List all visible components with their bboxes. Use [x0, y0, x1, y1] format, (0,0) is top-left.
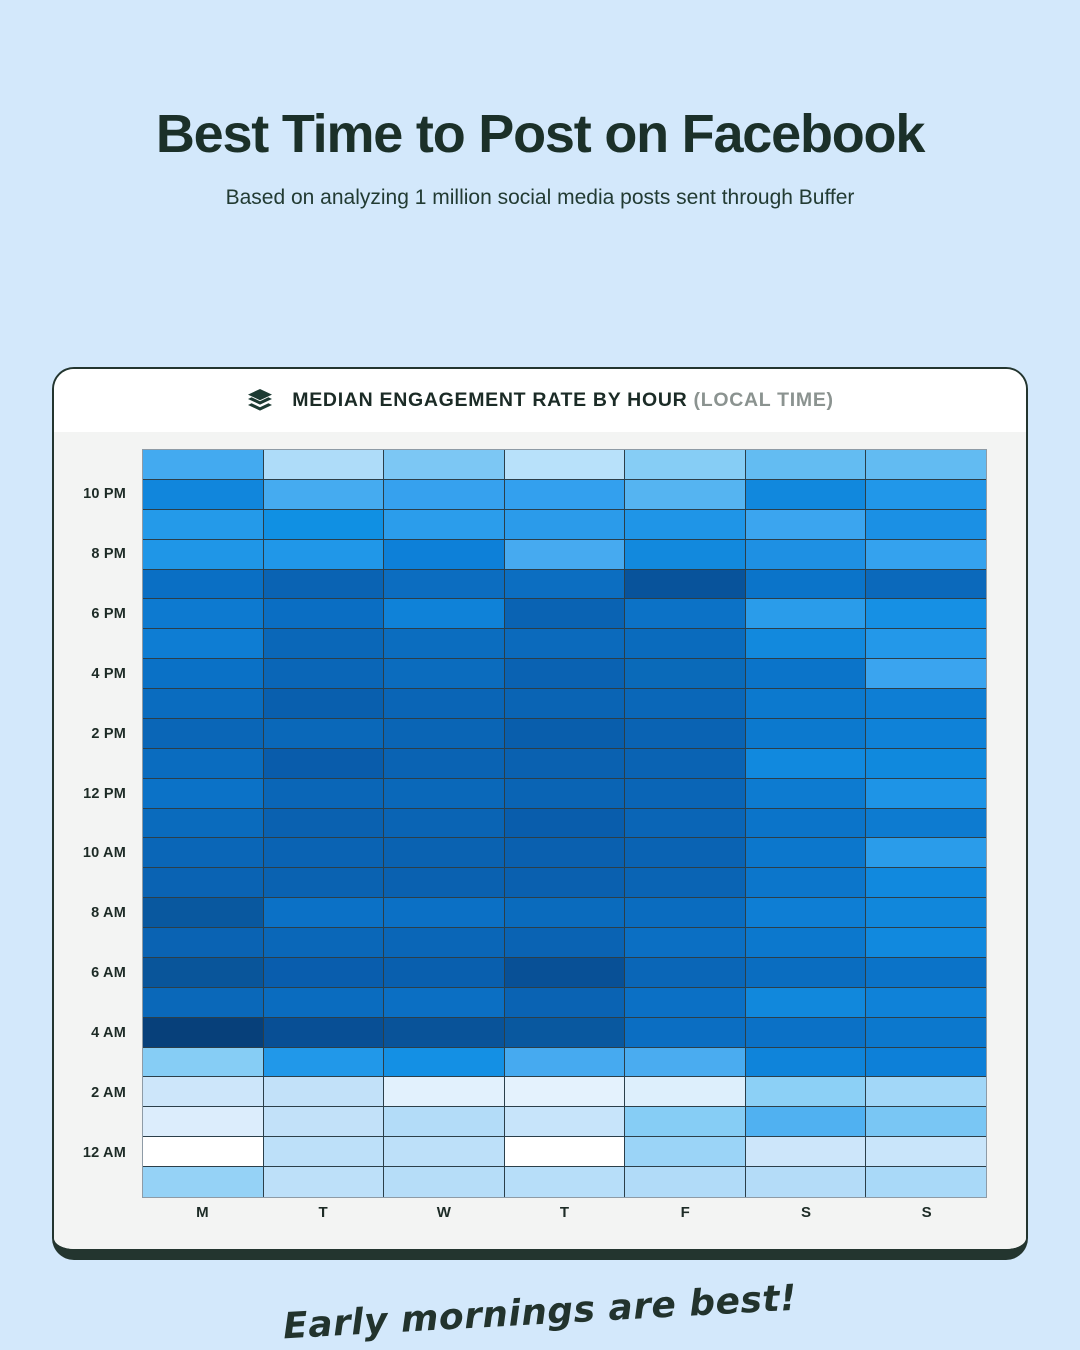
heatmap-cell[interactable]	[505, 1167, 626, 1197]
heatmap-cell[interactable]	[625, 570, 746, 600]
x-axis-label-sunday: S	[866, 1204, 987, 1221]
page-title: Best Time to Post on Facebook	[0, 104, 1080, 164]
x-axis-label-saturday: S	[746, 1204, 867, 1221]
heatmap-row	[143, 540, 986, 570]
heatmap-cell[interactable]	[746, 450, 867, 480]
heatmap-cell[interactable]	[384, 1048, 505, 1078]
heatmap-cell[interactable]	[384, 570, 505, 600]
heatmap-cell[interactable]	[264, 629, 385, 659]
heatmap-cell[interactable]	[746, 1137, 867, 1167]
chart-card: MEDIAN ENGAGEMENT RATE BY HOUR (LOCAL TI…	[52, 367, 1028, 1260]
heatmap-cell[interactable]	[505, 629, 626, 659]
y-axis-label: 2 AM	[91, 1085, 126, 1101]
heatmap-cell[interactable]	[505, 1048, 626, 1078]
heatmap-cell[interactable]	[866, 928, 986, 958]
heatmap-cell[interactable]	[143, 1018, 264, 1048]
heatmap-cell[interactable]	[264, 868, 385, 898]
heatmap-cell[interactable]	[264, 838, 385, 868]
heatmap-row	[143, 898, 986, 928]
heatmap-cell[interactable]	[143, 659, 264, 689]
y-axis-label: 12 PM	[83, 786, 126, 802]
heatmap-cell[interactable]	[746, 659, 867, 689]
footnote-annotation: Early mornings are best!	[0, 1262, 1080, 1350]
heatmap-cell[interactable]	[264, 1048, 385, 1078]
heatmap-cell[interactable]	[384, 689, 505, 719]
heatmap-cell[interactable]	[625, 779, 746, 809]
heatmap-cell[interactable]	[264, 1018, 385, 1048]
heatmap-cell[interactable]	[866, 1018, 986, 1048]
heatmap-cell[interactable]	[143, 838, 264, 868]
heatmap-cell[interactable]	[505, 659, 626, 689]
heatmap-cell[interactable]	[625, 540, 746, 570]
heatmap-cell[interactable]	[746, 719, 867, 749]
heatmap-cell[interactable]	[746, 958, 867, 988]
heatmap-cell[interactable]	[625, 1077, 746, 1107]
heatmap-cell[interactable]	[866, 779, 986, 809]
heatmap-cell[interactable]	[625, 1018, 746, 1048]
heatmap-row	[143, 450, 986, 480]
heatmap-cell[interactable]	[625, 1137, 746, 1167]
heatmap-row	[143, 629, 986, 659]
heatmap-cell[interactable]	[505, 779, 626, 809]
heatmap-cell[interactable]	[746, 1167, 867, 1197]
heatmap-cell[interactable]	[625, 928, 746, 958]
heatmap-cell[interactable]	[384, 809, 505, 839]
heatmap-cell[interactable]	[866, 719, 986, 749]
heatmap-cell[interactable]	[866, 1137, 986, 1167]
heatmap-cell[interactable]	[505, 689, 626, 719]
heatmap-cell[interactable]	[625, 480, 746, 510]
heatmap-cell[interactable]	[625, 1107, 746, 1137]
heatmap-cell[interactable]	[746, 809, 867, 839]
heatmap-cell[interactable]	[505, 898, 626, 928]
heatmap-cell[interactable]	[384, 928, 505, 958]
heatmap-cell[interactable]	[746, 868, 867, 898]
heatmap-cell[interactable]	[264, 570, 385, 600]
heatmap-cell[interactable]	[746, 898, 867, 928]
heatmap-cell[interactable]	[143, 1077, 264, 1107]
heatmap-cell[interactable]	[625, 958, 746, 988]
heatmap-cell[interactable]	[384, 958, 505, 988]
heatmap-cell[interactable]	[505, 719, 626, 749]
heatmap-cell[interactable]	[264, 1107, 385, 1137]
heatmap-cell[interactable]	[866, 1167, 986, 1197]
x-axis: MTWTFSS	[142, 1204, 987, 1221]
heatmap-cell[interactable]	[264, 898, 385, 928]
heatmap-row	[143, 1167, 986, 1197]
heatmap-cell[interactable]	[625, 838, 746, 868]
heatmap-cell[interactable]	[746, 749, 867, 779]
heatmap-cell[interactable]	[505, 838, 626, 868]
heatmap-cell[interactable]	[384, 629, 505, 659]
heatmap-row	[143, 510, 986, 540]
heatmap-cell[interactable]	[866, 510, 986, 540]
heatmap-row	[143, 1048, 986, 1078]
heatmap-cell[interactable]	[264, 809, 385, 839]
heatmap-cell[interactable]	[143, 779, 264, 809]
heatmap-cell[interactable]	[505, 749, 626, 779]
card-title-suffix: (LOCAL TIME)	[694, 389, 834, 411]
heatmap-cell[interactable]	[625, 1048, 746, 1078]
heatmap-cell[interactable]	[625, 868, 746, 898]
heatmap-cell[interactable]	[866, 958, 986, 988]
heatmap-cell[interactable]	[264, 958, 385, 988]
heatmap-cell[interactable]	[384, 838, 505, 868]
x-axis-label-monday: M	[142, 1204, 263, 1221]
heatmap-cell[interactable]	[143, 898, 264, 928]
heatmap-row	[143, 928, 986, 958]
heatmap-cell[interactable]	[746, 1018, 867, 1048]
heatmap-cell[interactable]	[746, 1077, 867, 1107]
heatmap-cell[interactable]	[143, 689, 264, 719]
heatmap-cell[interactable]	[625, 510, 746, 540]
y-axis-label: 6 AM	[91, 965, 126, 981]
heatmap-cell[interactable]	[625, 689, 746, 719]
heatmap-cell[interactable]	[746, 689, 867, 719]
heatmap-cell[interactable]	[866, 599, 986, 629]
heatmap-cell[interactable]	[143, 988, 264, 1018]
heatmap-cell[interactable]	[264, 599, 385, 629]
heatmap-cell[interactable]	[866, 809, 986, 839]
heatmap-cell[interactable]	[866, 1077, 986, 1107]
heatmap-cell[interactable]	[505, 868, 626, 898]
heatmap-cell[interactable]	[143, 749, 264, 779]
y-axis-label: 4 PM	[91, 666, 126, 682]
y-axis-label: 10 AM	[83, 845, 126, 861]
page-subtitle: Based on analyzing 1 million social medi…	[0, 186, 1080, 210]
heatmap-cell[interactable]	[384, 1018, 505, 1048]
heatmap-cell[interactable]	[143, 868, 264, 898]
heatmap-cell[interactable]	[746, 570, 867, 600]
heatmap-row	[143, 809, 986, 839]
heatmap-cell[interactable]	[505, 450, 626, 480]
y-axis-label: 12 AM	[83, 1145, 126, 1161]
heatmap-cell[interactable]	[866, 540, 986, 570]
heatmap-cell[interactable]	[264, 1137, 385, 1167]
heatmap-cell[interactable]	[625, 719, 746, 749]
y-axis-label: 6 PM	[91, 606, 126, 622]
heatmap-cell[interactable]	[143, 809, 264, 839]
heatmap-cell[interactable]	[384, 599, 505, 629]
heatmap-cell[interactable]	[746, 988, 867, 1018]
heatmap-cell[interactable]	[866, 749, 986, 779]
heatmap-cell[interactable]	[143, 629, 264, 659]
x-axis-label-wednesday: W	[383, 1204, 504, 1221]
heatmap-cell[interactable]	[505, 1077, 626, 1107]
heatmap-cell[interactable]	[505, 958, 626, 988]
heatmap-cell[interactable]	[143, 510, 264, 540]
heatmap-cell[interactable]	[384, 988, 505, 1018]
heatmap-cell[interactable]	[625, 988, 746, 1018]
heatmap-cell[interactable]	[505, 510, 626, 540]
heatmap-cell[interactable]	[264, 719, 385, 749]
heatmap-cell[interactable]	[264, 450, 385, 480]
card-title-main: MEDIAN ENGAGEMENT RATE BY HOUR	[292, 389, 687, 411]
heatmap-row	[143, 838, 986, 868]
heatmap-row	[143, 1018, 986, 1048]
card-header: MEDIAN ENGAGEMENT RATE BY HOUR (LOCAL TI…	[54, 369, 1026, 432]
heatmap-row	[143, 659, 986, 689]
heatmap-cell[interactable]	[384, 719, 505, 749]
heatmap-cell[interactable]	[143, 599, 264, 629]
heatmap-cell[interactable]	[505, 1107, 626, 1137]
heatmap-row	[143, 749, 986, 779]
heatmap-cell[interactable]	[384, 1137, 505, 1167]
heatmap-cell[interactable]	[505, 599, 626, 629]
heatmap-row	[143, 480, 986, 510]
heatmap-cell[interactable]	[505, 540, 626, 570]
heatmap-cell[interactable]	[505, 928, 626, 958]
heatmap-cell[interactable]	[866, 570, 986, 600]
heatmap-row	[143, 988, 986, 1018]
heatmap-cell[interactable]	[625, 809, 746, 839]
heatmap-row	[143, 689, 986, 719]
y-axis-label: 8 PM	[91, 546, 126, 562]
heatmap-cell[interactable]	[264, 928, 385, 958]
heatmap-cell[interactable]	[746, 599, 867, 629]
heatmap-cell[interactable]	[384, 898, 505, 928]
heatmap-cell[interactable]	[384, 480, 505, 510]
heatmap-cell[interactable]	[264, 689, 385, 719]
heatmap-cell[interactable]	[625, 450, 746, 480]
heatmap-cell[interactable]	[866, 898, 986, 928]
heatmap-cell[interactable]	[384, 779, 505, 809]
heatmap-cell[interactable]	[264, 988, 385, 1018]
heatmap-row	[143, 958, 986, 988]
heatmap-cell[interactable]	[384, 1077, 505, 1107]
heatmap-cell[interactable]	[625, 898, 746, 928]
heatmap-cell[interactable]	[746, 1048, 867, 1078]
y-axis-label: 2 PM	[91, 726, 126, 742]
heatmap-row	[143, 1107, 986, 1137]
y-axis: 10 PM8 PM6 PM4 PM2 PM12 PM10 AM8 AM6 AM4…	[54, 449, 134, 1198]
heatmap-cell[interactable]	[866, 838, 986, 868]
x-axis-label-tuesday: T	[263, 1204, 384, 1221]
heatmap-cell[interactable]	[625, 629, 746, 659]
heatmap-cell[interactable]	[264, 510, 385, 540]
heatmap-cell[interactable]	[746, 540, 867, 570]
heatmap-cell[interactable]	[264, 1167, 385, 1197]
heatmap-cell[interactable]	[143, 958, 264, 988]
heatmap-cell[interactable]	[625, 1167, 746, 1197]
heatmap-cell[interactable]	[264, 480, 385, 510]
heatmap-cell[interactable]	[384, 749, 505, 779]
heatmap-cell[interactable]	[264, 659, 385, 689]
heatmap-cell[interactable]	[746, 510, 867, 540]
heatmap-cell[interactable]	[384, 510, 505, 540]
heatmap-cell[interactable]	[384, 868, 505, 898]
heatmap-row	[143, 1077, 986, 1107]
heatmap-cell[interactable]	[625, 659, 746, 689]
heatmap-row	[143, 570, 986, 600]
heatmap-cell[interactable]	[866, 480, 986, 510]
heatmap-cell[interactable]	[625, 599, 746, 629]
heatmap-grid	[142, 449, 987, 1198]
buffer-logo-icon	[246, 387, 274, 415]
heatmap-cell[interactable]	[866, 1107, 986, 1137]
heatmap-cell[interactable]	[625, 749, 746, 779]
y-axis-label: 8 AM	[91, 905, 126, 921]
heatmap-cell[interactable]	[143, 450, 264, 480]
card-title: MEDIAN ENGAGEMENT RATE BY HOUR (LOCAL TI…	[292, 389, 833, 412]
heatmap-cell[interactable]	[866, 988, 986, 1018]
heatmap-row	[143, 868, 986, 898]
heatmap-cell[interactable]	[866, 1048, 986, 1078]
card-body: 10 PM8 PM6 PM4 PM2 PM12 PM10 AM8 AM6 AM4…	[54, 432, 1026, 1249]
y-axis-label: 10 PM	[83, 486, 126, 502]
heatmap-cell[interactable]	[264, 1077, 385, 1107]
heatmap-cell[interactable]	[384, 540, 505, 570]
heatmap-cell[interactable]	[866, 689, 986, 719]
heatmap-cell[interactable]	[746, 1107, 867, 1137]
heatmap-cell[interactable]	[264, 540, 385, 570]
heatmap-cell[interactable]	[384, 659, 505, 689]
heatmap-cell[interactable]	[143, 719, 264, 749]
heatmap-cell[interactable]	[746, 928, 867, 958]
heatmap-cell[interactable]	[746, 779, 867, 809]
heatmap-row	[143, 1137, 986, 1167]
heatmap-cell[interactable]	[143, 570, 264, 600]
x-axis-label-thursday: T	[504, 1204, 625, 1221]
heatmap-cell[interactable]	[505, 988, 626, 1018]
heatmap-cell[interactable]	[264, 749, 385, 779]
heatmap-row	[143, 719, 986, 749]
heatmap-cell[interactable]	[505, 1018, 626, 1048]
heatmap-cell[interactable]	[866, 450, 986, 480]
heatmap-cell[interactable]	[143, 1137, 264, 1167]
heatmap-cell[interactable]	[384, 450, 505, 480]
heatmap-cell[interactable]	[505, 809, 626, 839]
x-axis-label-friday: F	[625, 1204, 746, 1221]
heatmap-cell[interactable]	[746, 480, 867, 510]
heatmap-cell[interactable]	[866, 868, 986, 898]
heatmap-row	[143, 599, 986, 629]
heatmap-cell[interactable]	[746, 838, 867, 868]
heatmap-cell[interactable]	[746, 629, 867, 659]
heatmap-cell[interactable]	[505, 480, 626, 510]
y-axis-label: 4 AM	[91, 1025, 126, 1041]
heatmap-cell[interactable]	[384, 1167, 505, 1197]
heatmap-cell[interactable]	[866, 629, 986, 659]
heatmap-cell[interactable]	[143, 928, 264, 958]
heatmap-cell[interactable]	[264, 779, 385, 809]
heatmap-cell[interactable]	[866, 659, 986, 689]
heatmap-cell[interactable]	[143, 1167, 264, 1197]
heatmap-cell[interactable]	[384, 1107, 505, 1137]
heatmap-cell[interactable]	[505, 570, 626, 600]
heatmap-cell[interactable]	[143, 540, 264, 570]
heatmap-row	[143, 779, 986, 809]
heatmap-cell[interactable]	[143, 1107, 264, 1137]
heatmap-cell[interactable]	[505, 1137, 626, 1167]
heatmap-cell[interactable]	[143, 1048, 264, 1078]
heatmap-cell[interactable]	[143, 480, 264, 510]
